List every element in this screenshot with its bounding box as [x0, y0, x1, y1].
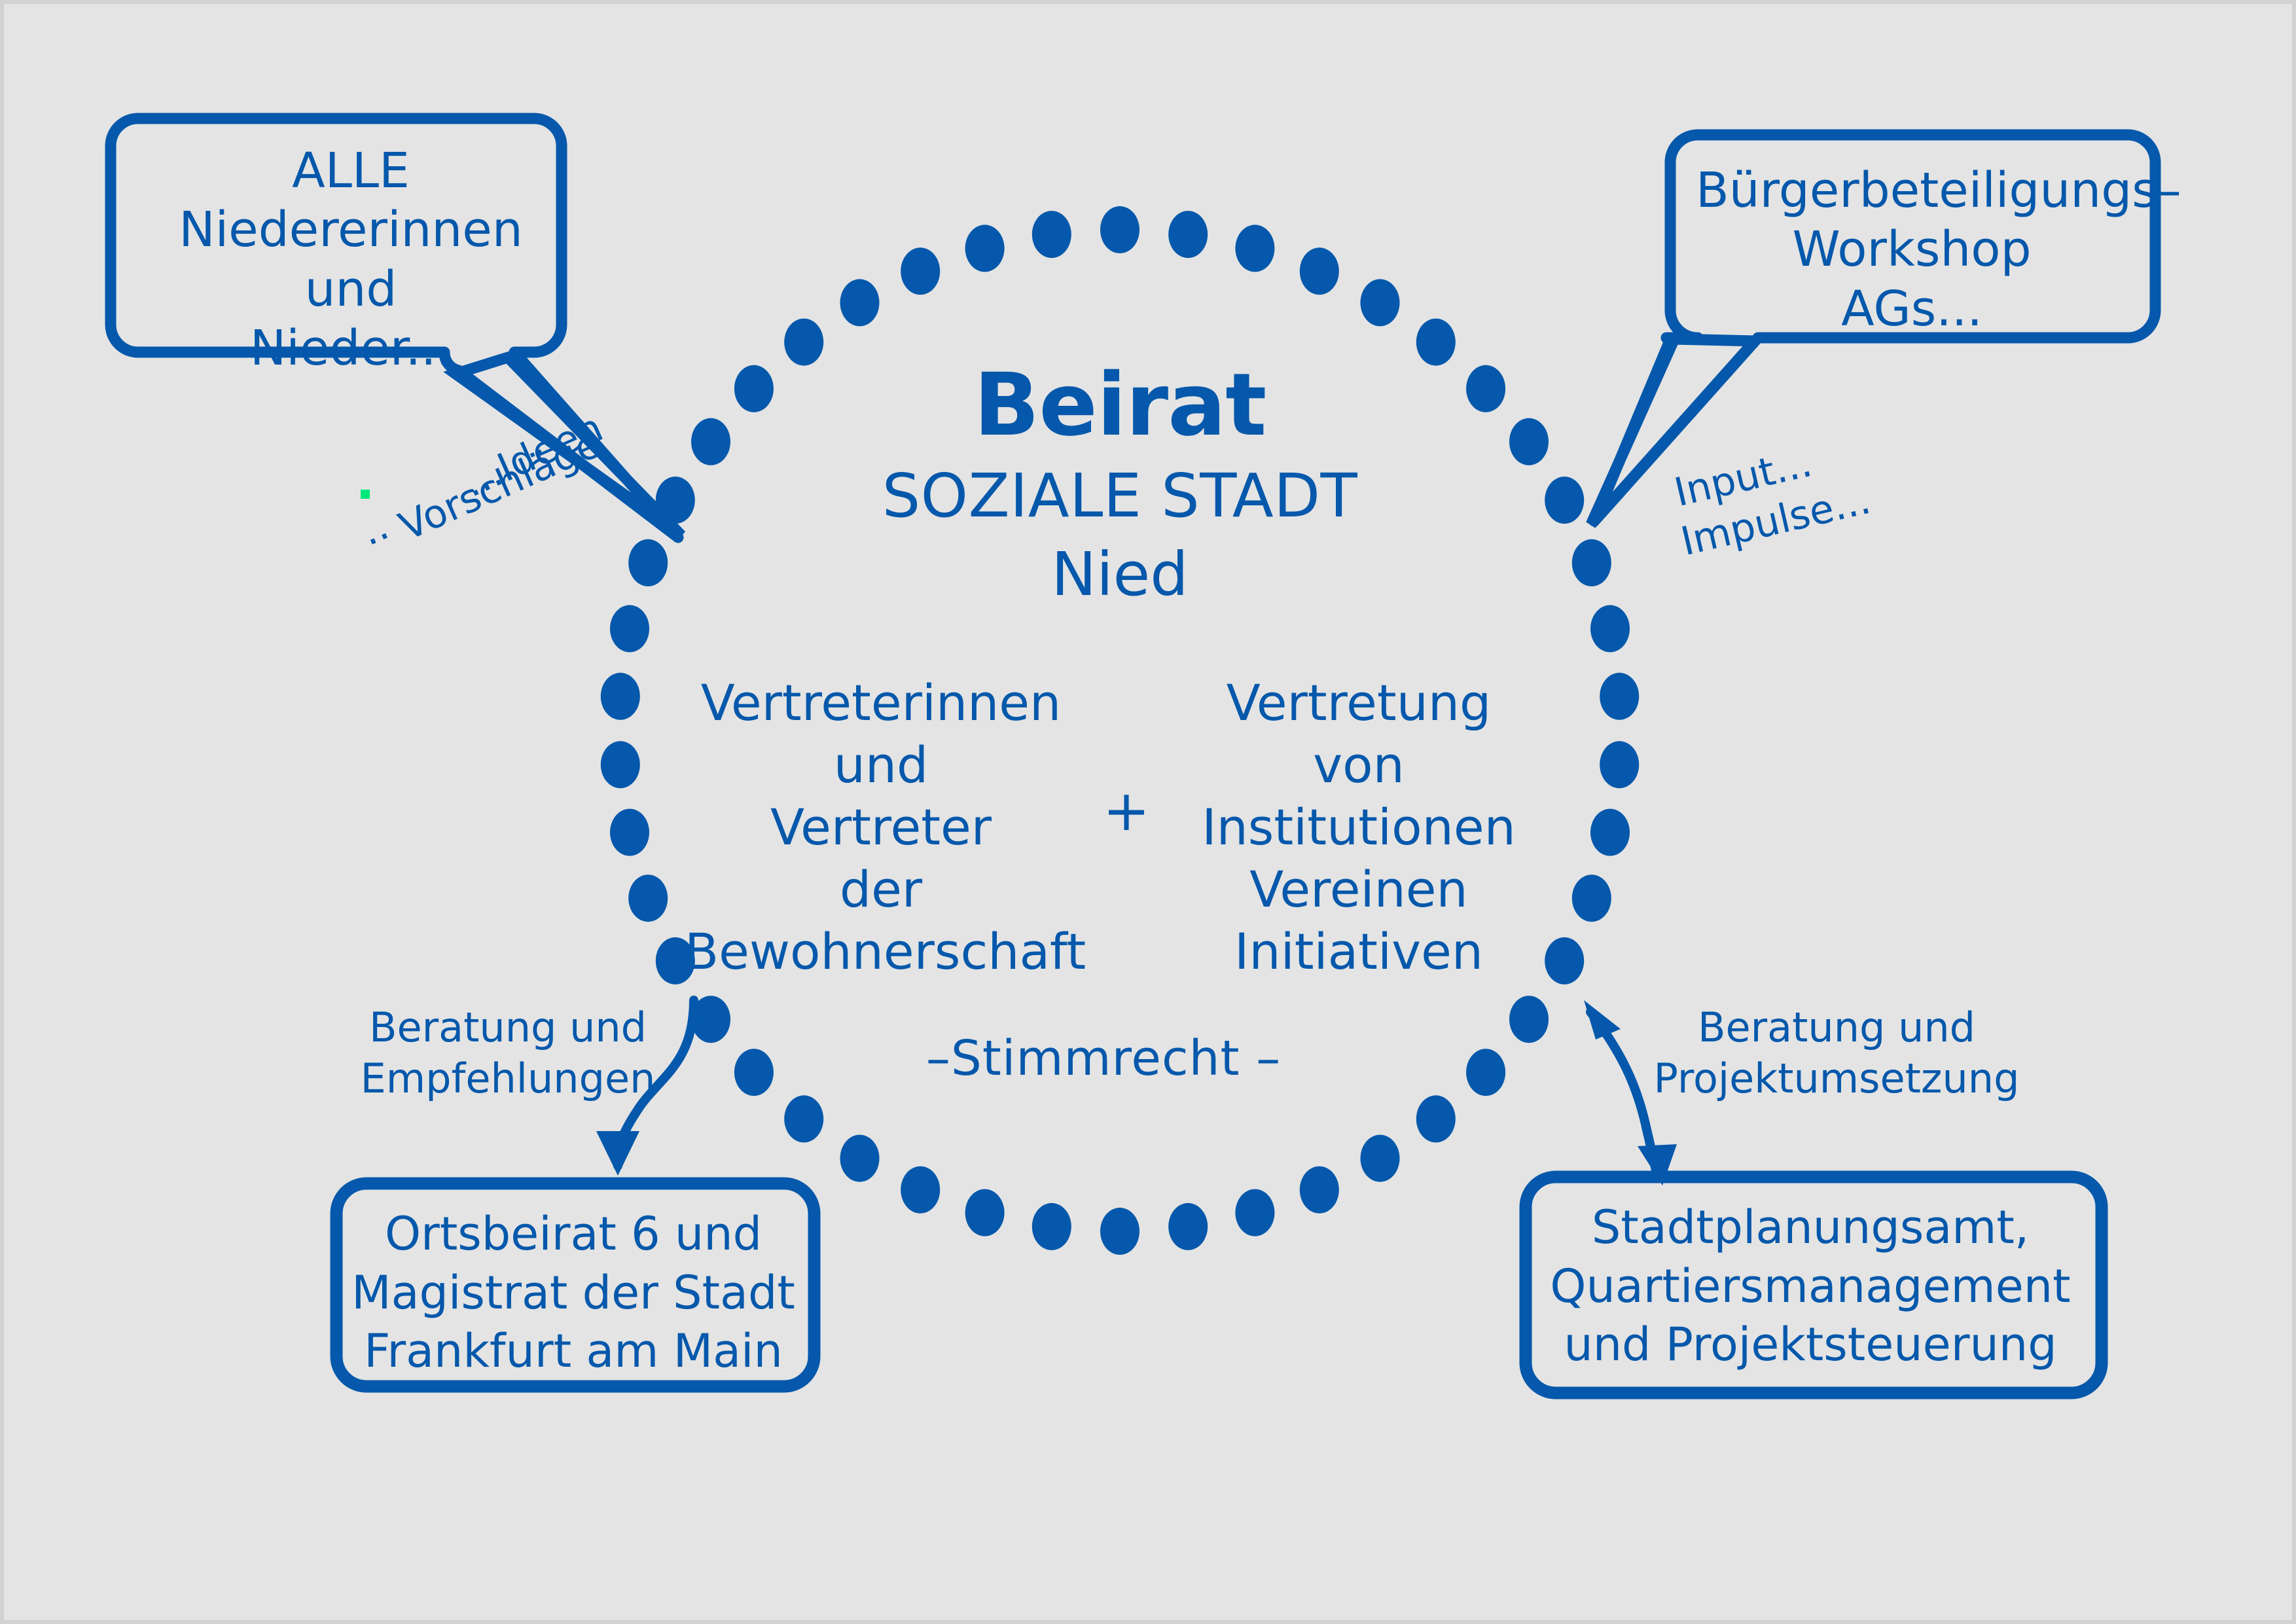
- center-column-right: Vertretung von Institutionen Vereinen In…: [1175, 672, 1542, 983]
- ring-dot: [628, 539, 668, 586]
- ring-dot: [1235, 225, 1274, 272]
- ring-dot: [1466, 1049, 1505, 1096]
- ring-dot: [1361, 279, 1400, 326]
- ring-dot: [1300, 247, 1339, 295]
- ring-dot: [1416, 1095, 1456, 1142]
- ring-dot: [1466, 365, 1505, 412]
- ring-dot: [901, 1166, 940, 1214]
- center-column-left: Vertreterinnen und Vertreter der Bewohne…: [685, 672, 1077, 983]
- ring-dot: [691, 418, 730, 465]
- page-title: Beirat: [799, 357, 1441, 454]
- ring-dot: [628, 875, 668, 922]
- box-left-label: Ortsbeirat 6 und Magistrat der Stadt Fra…: [344, 1205, 802, 1381]
- ring-dot: [1509, 418, 1549, 465]
- ring-dot: [840, 1135, 880, 1182]
- ring-dot: [1600, 741, 1639, 788]
- ring-dot: [1168, 1203, 1208, 1250]
- ring-dot: [1600, 673, 1639, 720]
- flow-label-right: Beratung und Projektumsetzung: [1627, 1002, 2046, 1104]
- ring-dot: [901, 247, 940, 295]
- stimmrecht-note: –Stimmrecht –: [920, 1032, 1287, 1086]
- ring-dot: [1572, 539, 1611, 586]
- box-right-label: Stadtplanungsamt, Quartiersmanagement un…: [1529, 1199, 2092, 1375]
- ring-dot: [1168, 211, 1208, 258]
- ring-dot: [734, 365, 774, 412]
- ring-dot: [1509, 996, 1549, 1043]
- ring-dot: [1100, 1208, 1139, 1255]
- ring-dot: [610, 809, 649, 856]
- flow-label-left: Beratung und Empfehlungen: [325, 1002, 691, 1104]
- bubble-right-label: Bürgerbeteiligungs– Workshop AGs...: [1696, 161, 2128, 338]
- ring-dot: [965, 225, 1005, 272]
- ring-dot: [1590, 605, 1630, 652]
- ring-dot: [610, 605, 649, 652]
- ring-dot: [1032, 1203, 1071, 1250]
- ring-dot: [734, 1049, 774, 1096]
- ring-dot: [1545, 937, 1584, 984]
- diagram-canvas: ALLE Niedererinnen und Nieder... Bürgerb…: [0, 0, 2296, 1624]
- ring-dot: [965, 1189, 1005, 1236]
- ring-dot: [1235, 1189, 1274, 1236]
- ring-dot: [601, 673, 640, 720]
- plus-symbol: +: [1077, 780, 1175, 842]
- bubble-left-label: ALLE Niedererinnen und Nieder...: [135, 141, 567, 378]
- center-subtitle-line1: SOZIALE STADT: [799, 462, 1441, 530]
- ring-dot: [1590, 809, 1630, 856]
- ring-dot: [840, 279, 880, 326]
- center-subtitle-line2: Nied: [799, 541, 1441, 608]
- ring-dot: [1572, 875, 1611, 922]
- ring-dot: [1032, 211, 1071, 258]
- ring-dot: [601, 741, 640, 788]
- ring-dot: [784, 1095, 823, 1142]
- ring-dot: [1100, 206, 1139, 253]
- ring-dot: [1300, 1166, 1339, 1214]
- green-artifact-dot: [361, 490, 370, 499]
- ring-dot: [1545, 477, 1584, 524]
- ring-dot: [1361, 1135, 1400, 1182]
